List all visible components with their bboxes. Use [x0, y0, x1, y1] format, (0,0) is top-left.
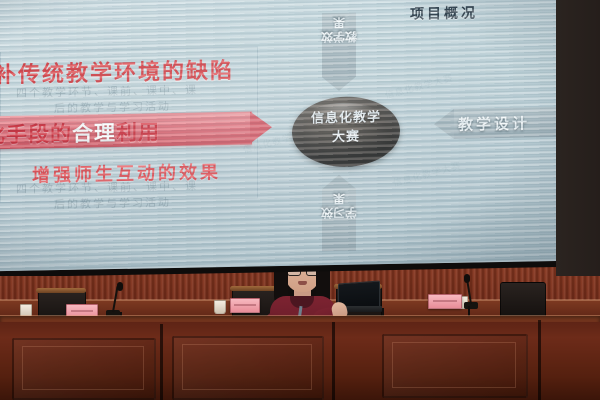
desk-panel-inner — [392, 342, 516, 388]
desk-seam — [538, 320, 541, 400]
screenshot-root: 四个教学环节、课前、课中、课 后的教学与学习活动 四个教学环节、课前、课中、课 … — [0, 0, 600, 400]
microphone-head — [117, 282, 123, 291]
presenter-mouth — [298, 281, 307, 285]
desk-seam — [332, 322, 335, 400]
chair-top-rail — [36, 288, 86, 293]
projector-scanlines-secondary — [0, 0, 570, 271]
desk-seam — [160, 324, 163, 400]
projection-screen-area: 四个教学环节、课前、课中、课 后的教学与学习活动 四个教学环节、课前、课中、课 … — [0, 0, 600, 276]
name-card — [428, 294, 462, 309]
name-card — [230, 298, 260, 313]
chair — [500, 282, 546, 318]
paper-cup — [214, 300, 226, 314]
desk-panel-inner — [182, 344, 312, 390]
desk-panel-inner — [22, 346, 144, 390]
projection-screen: 四个教学环节、课前、课中、课 后的教学与学习活动 四个教学环节、课前、课中、课 … — [0, 0, 570, 271]
screen-right-dark-border — [556, 0, 600, 276]
